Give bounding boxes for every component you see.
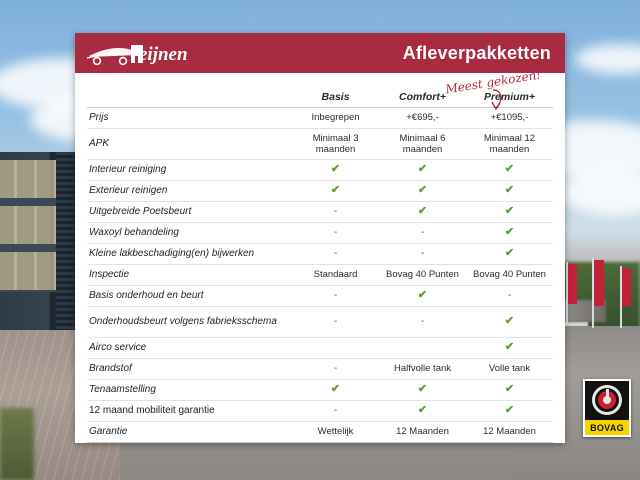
- feature-label: Brandstof: [87, 358, 292, 379]
- check-icon: ✔: [331, 163, 340, 175]
- cell-comfort: Minimaal 6 maanden: [379, 128, 466, 159]
- feature-label: Exterieur reinigen: [87, 180, 292, 201]
- bovag-emblem: BOVAG: [585, 381, 629, 435]
- cell-comfort: Bovag 40 Punten: [379, 264, 466, 285]
- table-row: APKMinimaal 3 maandenMinimaal 6 maandenM…: [87, 128, 553, 159]
- table-header-row: Basis Comfort+ Premium+: [87, 73, 553, 107]
- feature-label: Inspectie: [87, 264, 292, 285]
- dash-icon: -: [334, 227, 337, 238]
- cell-basis: Wettelijk: [292, 421, 379, 442]
- check-icon: ✔: [505, 404, 514, 416]
- table-row: 12 maand mobiliteit garantie-✔✔: [87, 400, 553, 421]
- table-row: Exterieur reinigen✔✔✔: [87, 180, 553, 201]
- banner-flag: [622, 268, 631, 306]
- banner-flag: [568, 264, 577, 304]
- check-icon: ✔: [331, 383, 340, 395]
- table-row: Onderhoudsbeurt volgens fabrieksschema--…: [87, 306, 553, 337]
- cell-premium: ✔: [466, 222, 553, 243]
- cell-premium: Volle tank: [466, 358, 553, 379]
- cell-basis: -: [292, 400, 379, 421]
- dash-icon: -: [334, 248, 337, 259]
- cell-basis: Minimaal 3 maanden: [292, 128, 379, 159]
- check-icon: ✔: [418, 184, 427, 196]
- table-body: PrijsInbegrepen+€695,-+€1095,-APKMinimaa…: [87, 107, 553, 442]
- cell-premium: ✔: [466, 379, 553, 400]
- check-icon: ✔: [505, 226, 514, 238]
- svg-text:eijnen: eijnen: [139, 44, 188, 65]
- col-header-basis: Basis: [292, 73, 379, 107]
- table-row: Basis onderhoud en beurt-✔-: [87, 285, 553, 306]
- cell-comfort: [379, 337, 466, 358]
- page-title: Afleverpakketten: [403, 43, 551, 64]
- check-icon: ✔: [418, 404, 427, 416]
- bovag-mark-icon: [585, 381, 629, 421]
- feature-label: Onderhoudsbeurt volgens fabrieksschema: [87, 306, 292, 337]
- feature-label: 12 maand mobiliteit garantie: [87, 400, 292, 421]
- cell-premium: ✔: [466, 159, 553, 180]
- dash-icon: -: [508, 290, 511, 301]
- cell-basis: -: [292, 306, 379, 337]
- table-row: InspectieStandaardBovag 40 PuntenBovag 4…: [87, 264, 553, 285]
- cell-comfort: ✔: [379, 400, 466, 421]
- feature-label: Uitgebreide Poetsbeurt: [87, 201, 292, 222]
- packages-table-wrap: Basis Comfort+ Premium+ PrijsInbegrepen+…: [75, 73, 565, 443]
- dash-icon: -: [334, 363, 337, 374]
- cell-basis: Standaard: [292, 264, 379, 285]
- dash-icon: -: [334, 405, 337, 416]
- cell-comfort: ✔: [379, 285, 466, 306]
- dash-icon: -: [334, 316, 337, 327]
- check-icon: ✔: [331, 184, 340, 196]
- cell-basis: -: [292, 201, 379, 222]
- table-row: Kleine lakbeschadiging(en) bijwerken--✔: [87, 243, 553, 264]
- cell-comfort: -: [379, 306, 466, 337]
- banner-flag: [594, 260, 604, 306]
- cell-basis: -: [292, 222, 379, 243]
- cell-premium: ✔: [466, 400, 553, 421]
- feature-label: Basis onderhoud en beurt: [87, 285, 292, 306]
- feature-label: Interieur reiniging: [87, 159, 292, 180]
- cloud-shape: [575, 44, 640, 74]
- reijnen-logo[interactable]: eijnen: [87, 38, 195, 68]
- bovag-wordmark: BOVAG: [585, 420, 629, 435]
- col-header-premium: Premium+: [466, 73, 553, 107]
- dash-icon: -: [421, 227, 424, 238]
- table-row: Interieur reiniging✔✔✔: [87, 159, 553, 180]
- cell-comfort: ✔: [379, 180, 466, 201]
- check-icon: ✔: [418, 289, 427, 301]
- check-icon: ✔: [505, 205, 514, 217]
- card-header: eijnen Afleverpakketten: [75, 33, 565, 73]
- building-windows: [0, 160, 56, 292]
- check-icon: ✔: [505, 383, 514, 395]
- cell-comfort: -: [379, 222, 466, 243]
- col-header-comfort: Comfort+: [379, 73, 466, 107]
- check-icon: ✔: [418, 383, 427, 395]
- cell-premium: ✔: [466, 201, 553, 222]
- packages-table: Basis Comfort+ Premium+ PrijsInbegrepen+…: [87, 73, 553, 443]
- feature-label: Waxoyl behandeling: [87, 222, 292, 243]
- cell-premium: -: [466, 285, 553, 306]
- cell-comfort: +€695,-: [379, 107, 466, 128]
- cell-premium: Bovag 40 Punten: [466, 264, 553, 285]
- cell-basis: ✔: [292, 159, 379, 180]
- cell-premium: +€1095,-: [466, 107, 553, 128]
- check-icon: ✔: [418, 163, 427, 175]
- cell-premium: ✔: [466, 337, 553, 358]
- table-head: Basis Comfort+ Premium+: [87, 73, 553, 107]
- feature-label: Kleine lakbeschadiging(en) bijwerken: [87, 243, 292, 264]
- cell-basis: -: [292, 243, 379, 264]
- cell-comfort: Halfvolle tank: [379, 358, 466, 379]
- feature-label: Airco service: [87, 337, 292, 358]
- bovag-badge: BOVAG: [583, 379, 631, 437]
- cell-comfort: ✔: [379, 201, 466, 222]
- cell-basis: -: [292, 358, 379, 379]
- cell-premium: ✔: [466, 243, 553, 264]
- table-row: Brandstof-Halfvolle tankVolle tank: [87, 358, 553, 379]
- col-header-feature: [87, 73, 292, 107]
- check-icon: ✔: [505, 184, 514, 196]
- cell-comfort: 12 Maanden: [379, 421, 466, 442]
- dash-icon: -: [334, 206, 337, 217]
- cell-premium: ✔: [466, 306, 553, 337]
- table-row: Waxoyl behandeling--✔: [87, 222, 553, 243]
- table-row: Airco service✔: [87, 337, 553, 358]
- dash-icon: -: [421, 248, 424, 259]
- cell-premium: Minimaal 12 maanden: [466, 128, 553, 159]
- cell-basis: [292, 337, 379, 358]
- check-icon: ✔: [505, 247, 514, 259]
- table-row: Uitgebreide Poetsbeurt-✔✔: [87, 201, 553, 222]
- cell-comfort: ✔: [379, 379, 466, 400]
- feature-label: Prijs: [87, 107, 292, 128]
- cell-basis: ✔: [292, 379, 379, 400]
- table-row: Tenaamstelling✔✔✔: [87, 379, 553, 400]
- cell-basis: -: [292, 285, 379, 306]
- afleverpakketten-card: eijnen Afleverpakketten Basis Comfort+ P…: [75, 33, 565, 443]
- cell-premium: ✔: [466, 180, 553, 201]
- check-icon: ✔: [505, 163, 514, 175]
- dash-icon: -: [421, 316, 424, 327]
- check-icon: ✔: [505, 315, 514, 327]
- table-row: GarantieWettelijk12 Maanden12 Maanden: [87, 421, 553, 442]
- check-icon: ✔: [418, 205, 427, 217]
- grass-verge: [0, 408, 34, 480]
- feature-label: Tenaamstelling: [87, 379, 292, 400]
- cell-comfort: ✔: [379, 159, 466, 180]
- feature-label: Garantie: [87, 421, 292, 442]
- cell-comfort: -: [379, 243, 466, 264]
- cell-basis: Inbegrepen: [292, 107, 379, 128]
- check-icon: ✔: [505, 341, 514, 353]
- cell-basis: ✔: [292, 180, 379, 201]
- feature-label: APK: [87, 128, 292, 159]
- table-row: PrijsInbegrepen+€695,-+€1095,-: [87, 107, 553, 128]
- dash-icon: -: [334, 290, 337, 301]
- cell-premium: 12 Maanden: [466, 421, 553, 442]
